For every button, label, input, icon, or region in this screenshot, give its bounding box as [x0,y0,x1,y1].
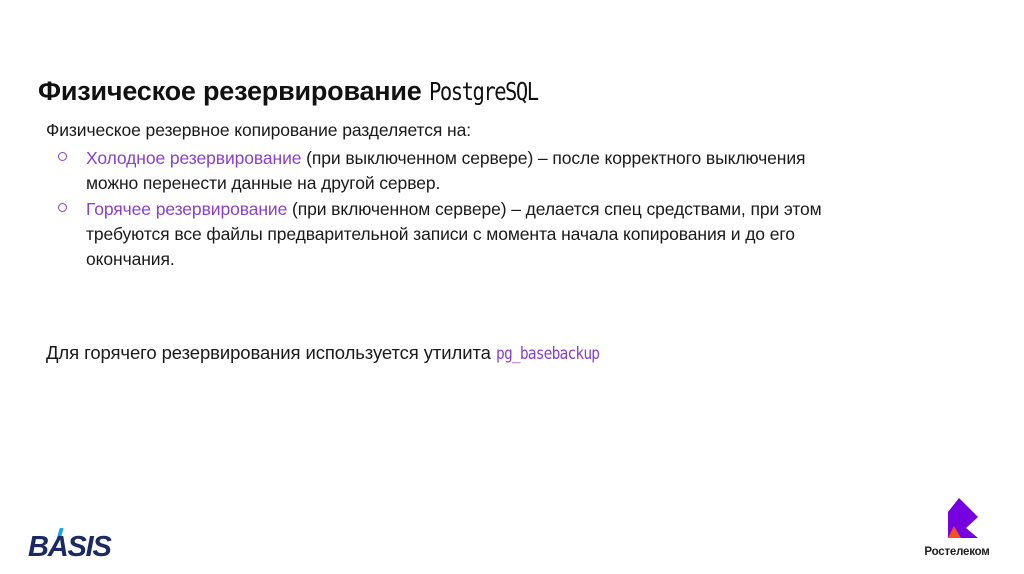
rostelecom-logo: Ростелеком [912,498,1002,568]
closing-text: Для горячего резервирования используется… [46,342,496,363]
basis-logo: BASIS [28,528,140,564]
bullet-circle-icon [58,203,67,212]
list-item-highlight: Горячее резервирование [86,199,287,219]
rostelecom-mark-icon [940,498,978,545]
rostelecom-wordmark: Ростелеком [912,546,1002,558]
page-title: Физическое резервирование PostgreSQL [38,76,561,107]
page-title-main: Физическое резервирование [38,76,422,106]
list-item: Холодное резервирование (при выключенном… [46,146,826,196]
slide-canvas: Физическое резервирование PostgreSQL Физ… [0,0,1024,574]
list-item: Горячее резервирование (при включенном с… [46,197,826,272]
lead-paragraph: Физическое резервное копирование разделя… [46,118,826,142]
bullet-circle-icon [58,152,67,161]
list-item-highlight: Холодное резервирование [86,148,301,168]
basis-wordmark: BASIS [28,533,111,562]
page-title-product: PostgreSQL [429,78,538,107]
closing-paragraph: Для горячего резервирования используется… [46,341,616,365]
utility-name-code: pg_basebackup [496,343,599,365]
bullet-list: Холодное резервирование (при выключенном… [46,146,826,271]
content-body: Физическое резервное копирование разделя… [46,118,826,272]
